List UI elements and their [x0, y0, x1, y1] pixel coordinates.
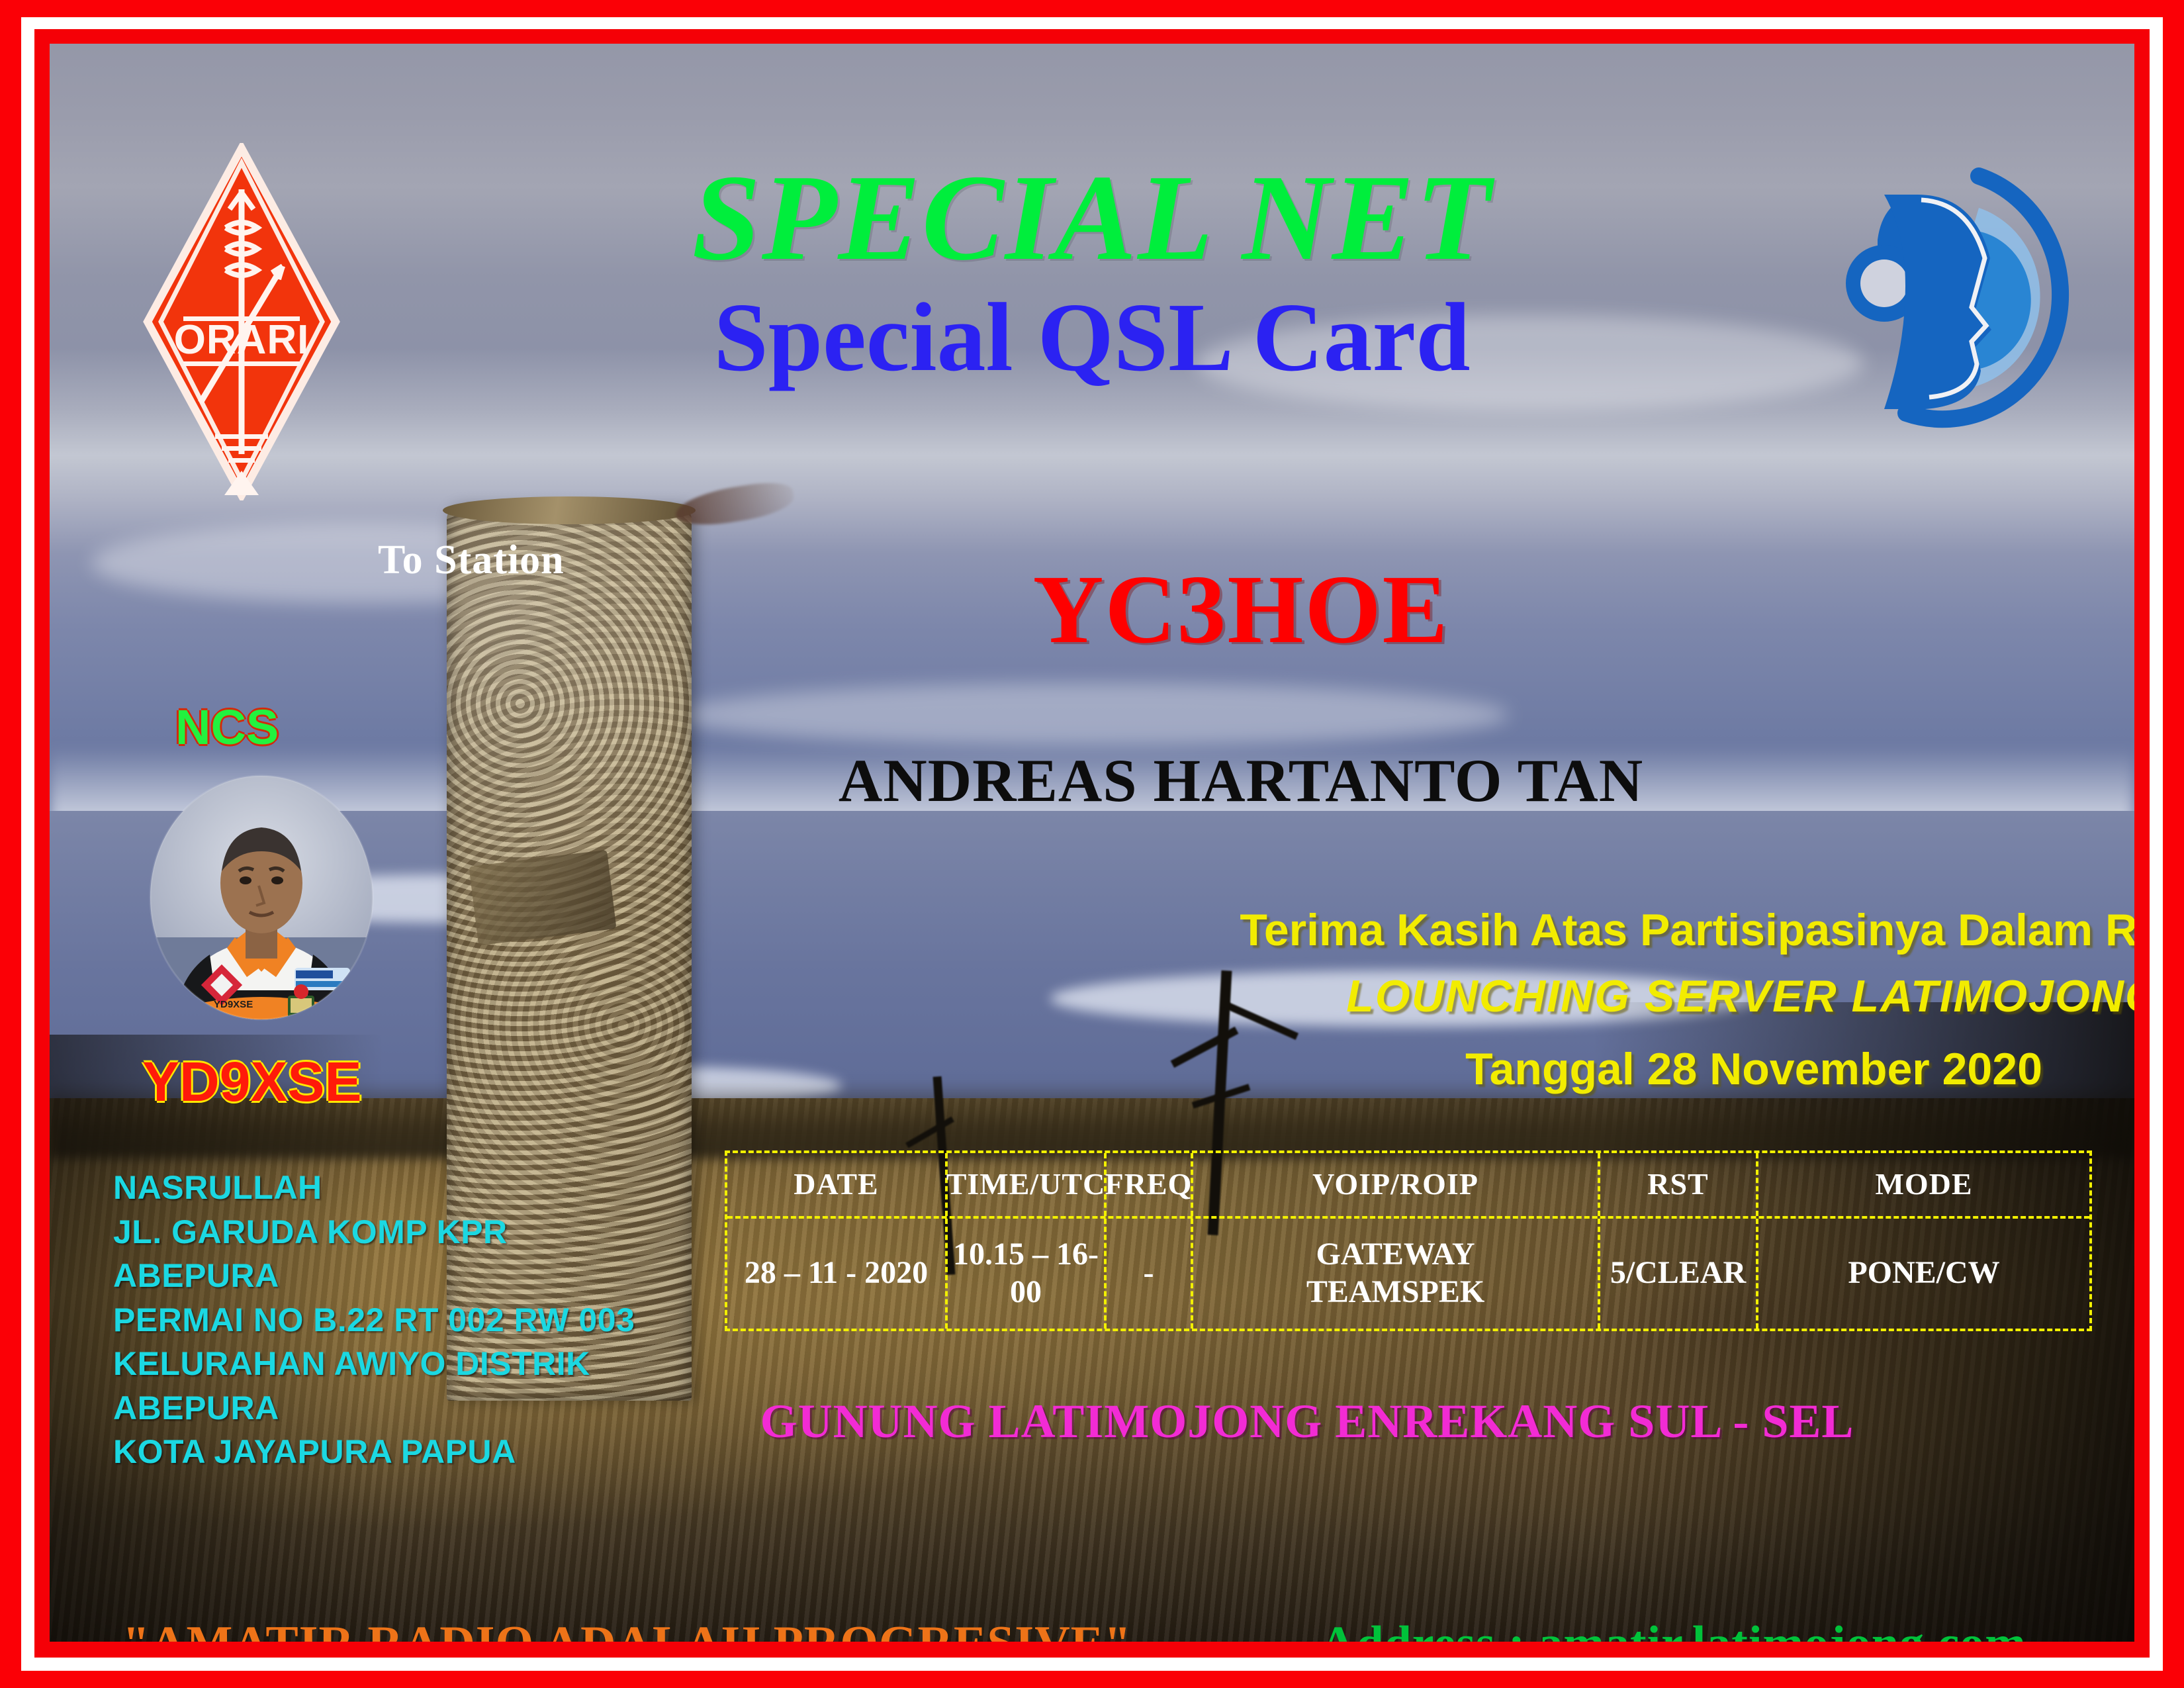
operator-name: ANDREAS HARTANTO TAN	[711, 745, 1770, 816]
ncs-callsign: YD9XSE	[142, 1050, 362, 1114]
page-subtitle: Special QSL Card	[50, 289, 2134, 387]
ncs-photo-svg: YD9XSE	[129, 772, 394, 1023]
qso-details-table: DATE TIME/UTC FREQ VOIP/ROIP RST MODE 28…	[725, 1150, 2092, 1331]
address-line: PERMAI NO B.22 RT 002 RW 003	[113, 1298, 635, 1342]
table-cell-time: 10.15 – 16-00	[948, 1219, 1107, 1329]
background-photo: ORARI SPECIAL NET Special QSL Card	[50, 44, 2134, 1642]
table-cell-mode: PONE/CW	[1758, 1219, 2089, 1329]
address-line: ABEPURA	[113, 1386, 635, 1430]
table-cell-voip-roip: GATEWAYTEAMSPEK	[1193, 1219, 1600, 1329]
station-callsign: YC3HOE	[725, 553, 1757, 666]
ncs-operator-photo: YD9XSE	[129, 772, 394, 1023]
event-date: Tanggal 28 November 2020	[711, 1043, 2134, 1095]
table-header-freq: FREQ	[1107, 1153, 1193, 1216]
table-header-time: TIME/UTC	[948, 1153, 1107, 1216]
qsl-card: ORARI SPECIAL NET Special QSL Card	[0, 0, 2184, 1688]
event-name: LOUNCHING SERVER LATIMOJONG	[711, 970, 2134, 1022]
mailing-address: NASRULLAH JL. GARUDA KOMP KPR ABEPURA PE…	[113, 1166, 635, 1474]
location-line: GUNUNG LATIMOJONG ENREKANG SUL - SEL	[711, 1394, 1903, 1449]
thanks-line-1: Terima Kasih Atas Partisipasinya Dalam R…	[711, 904, 2134, 956]
table-header-rst: RST	[1600, 1153, 1758, 1216]
table-header-mode: MODE	[1758, 1153, 2089, 1216]
page-title: SPECIAL NET	[50, 156, 2134, 279]
pillar-cap	[443, 496, 696, 524]
address-line: ABEPURA	[113, 1254, 635, 1298]
table-row: 28 – 11 - 2020 10.15 – 16-00 - GATEWAYTE…	[727, 1219, 2089, 1329]
photo-badge-text: YD9XSE	[214, 999, 253, 1010]
cloud-streak	[675, 683, 1509, 747]
footer-slogan: "AMATIR RADIO ADALAH PROGRESIVE"	[122, 1616, 1132, 1642]
footer-website: Address : amatir.latimojong.com	[1320, 1616, 2026, 1642]
table-cell-freq: -	[1107, 1219, 1193, 1329]
to-station-label: To Station	[378, 537, 565, 584]
address-line: JL. GARUDA KOMP KPR	[113, 1210, 635, 1254]
table-cell-rst: 5/CLEAR	[1600, 1219, 1758, 1329]
address-line: KOTA JAYAPURA PAPUA	[113, 1430, 635, 1474]
table-header-date: DATE	[727, 1153, 948, 1216]
address-line: NASRULLAH	[113, 1166, 635, 1210]
table-cell-date: 28 – 11 - 2020	[727, 1219, 948, 1329]
ncs-label: NCS	[175, 699, 279, 755]
table-header-row: DATE TIME/UTC FREQ VOIP/ROIP RST MODE	[727, 1153, 2089, 1219]
table-header-voip-roip: VOIP/ROIP	[1193, 1153, 1600, 1216]
pillar-plate	[469, 850, 616, 946]
address-line: KELURAHAN AWIYO DISTRIK	[113, 1342, 635, 1386]
